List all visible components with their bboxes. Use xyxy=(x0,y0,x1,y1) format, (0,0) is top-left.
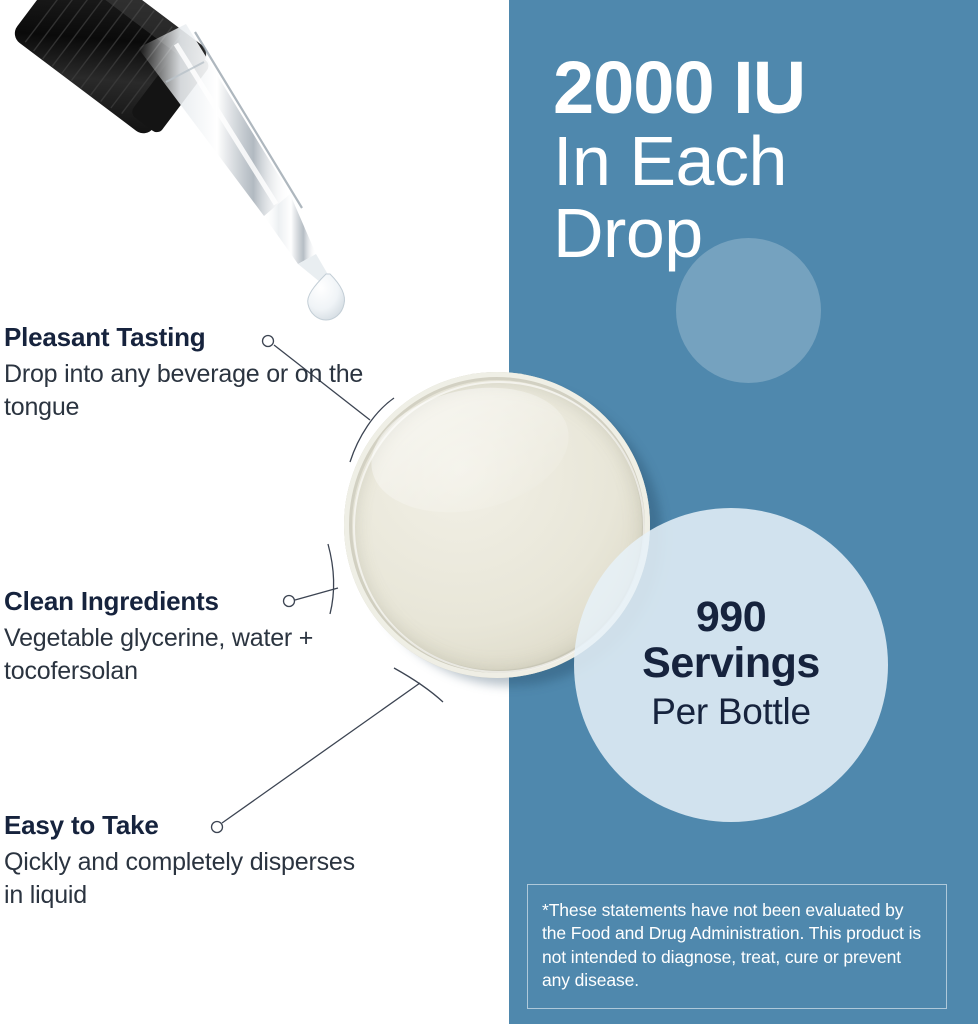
liquid-droplet xyxy=(308,274,345,320)
feature-title: Clean Ingredients xyxy=(4,586,364,617)
headline-dose: 2000 IU xyxy=(553,52,973,125)
fda-disclaimer-box: *These statements have not been evaluate… xyxy=(527,884,947,1009)
feature-body: Qickly and completely disperses in liqui… xyxy=(4,846,364,912)
feature-title: Pleasant Tasting xyxy=(4,322,364,353)
dropper-pipette xyxy=(138,24,330,282)
servings-subtitle: Per Bottle xyxy=(651,690,810,734)
product-infographic: 2000 IU In Each Drop 990 Servings Per Bo… xyxy=(0,0,978,1024)
servings-unit: Servings xyxy=(642,641,820,687)
feature-callout-clean-ingredients: Clean Ingredients Vegetable glycerine, w… xyxy=(4,586,364,688)
feature-body: Vegetable glycerine, water + tocofersola… xyxy=(4,622,364,688)
dropper-illustration xyxy=(0,0,390,326)
feature-callout-pleasant-tasting: Pleasant Tasting Drop into any beverage … xyxy=(4,322,364,424)
headline-line-2: In Each xyxy=(553,125,973,198)
headline-line-3: Drop xyxy=(553,197,973,270)
feature-body: Drop into any beverage or on the tongue xyxy=(4,358,364,424)
feature-callout-easy-to-take: Easy to Take Qickly and completely dispe… xyxy=(4,810,364,912)
headline-block: 2000 IU In Each Drop xyxy=(553,52,973,270)
servings-count: 990 xyxy=(696,595,766,641)
feature-title: Easy to Take xyxy=(4,810,364,841)
fda-disclaimer-text: *These statements have not been evaluate… xyxy=(542,899,930,992)
servings-text-block: 990 Servings Per Bottle xyxy=(574,508,888,822)
